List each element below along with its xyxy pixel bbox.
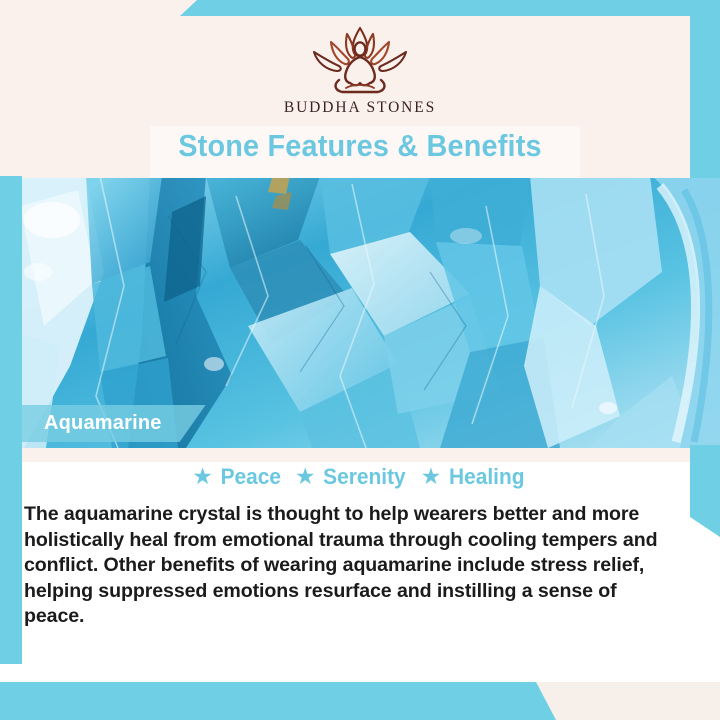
cyan-left-band xyxy=(0,176,22,664)
cyan-right-upper-band xyxy=(690,0,720,178)
benefit-item-peace: ★ Peace xyxy=(194,464,283,490)
brand-name: BUDDHA STONES xyxy=(284,99,436,117)
star-icon: ★ xyxy=(194,467,212,487)
benefits-row: ★ Peace ★ Serenity ★ Healing xyxy=(0,464,720,490)
benefit-label-healing: Healing xyxy=(449,464,524,490)
stone-description: The aquamarine crystal is thought to hel… xyxy=(24,502,678,630)
stone-name-text: Aquamarine xyxy=(44,412,162,435)
stone-features-card: BUDDHA STONES Stone Features & Benefits xyxy=(0,0,720,720)
cream-divider xyxy=(22,448,698,462)
lotus-meditation-icon xyxy=(284,22,436,94)
stone-name-badge: Aquamarine xyxy=(22,405,206,442)
aquamarine-crystal-photo: Aquamarine xyxy=(0,176,720,448)
benefit-label-peace: Peace xyxy=(220,464,280,490)
benefit-label-serenity: Serenity xyxy=(323,464,405,490)
benefit-item-serenity: ★ Serenity xyxy=(296,464,408,490)
brand-logo: BUDDHA STONES xyxy=(0,22,720,117)
star-icon: ★ xyxy=(296,467,314,487)
star-icon: ★ xyxy=(422,467,440,487)
benefit-item-healing: ★ Healing xyxy=(422,464,526,490)
page-title: Stone Features & Benefits xyxy=(25,128,695,164)
